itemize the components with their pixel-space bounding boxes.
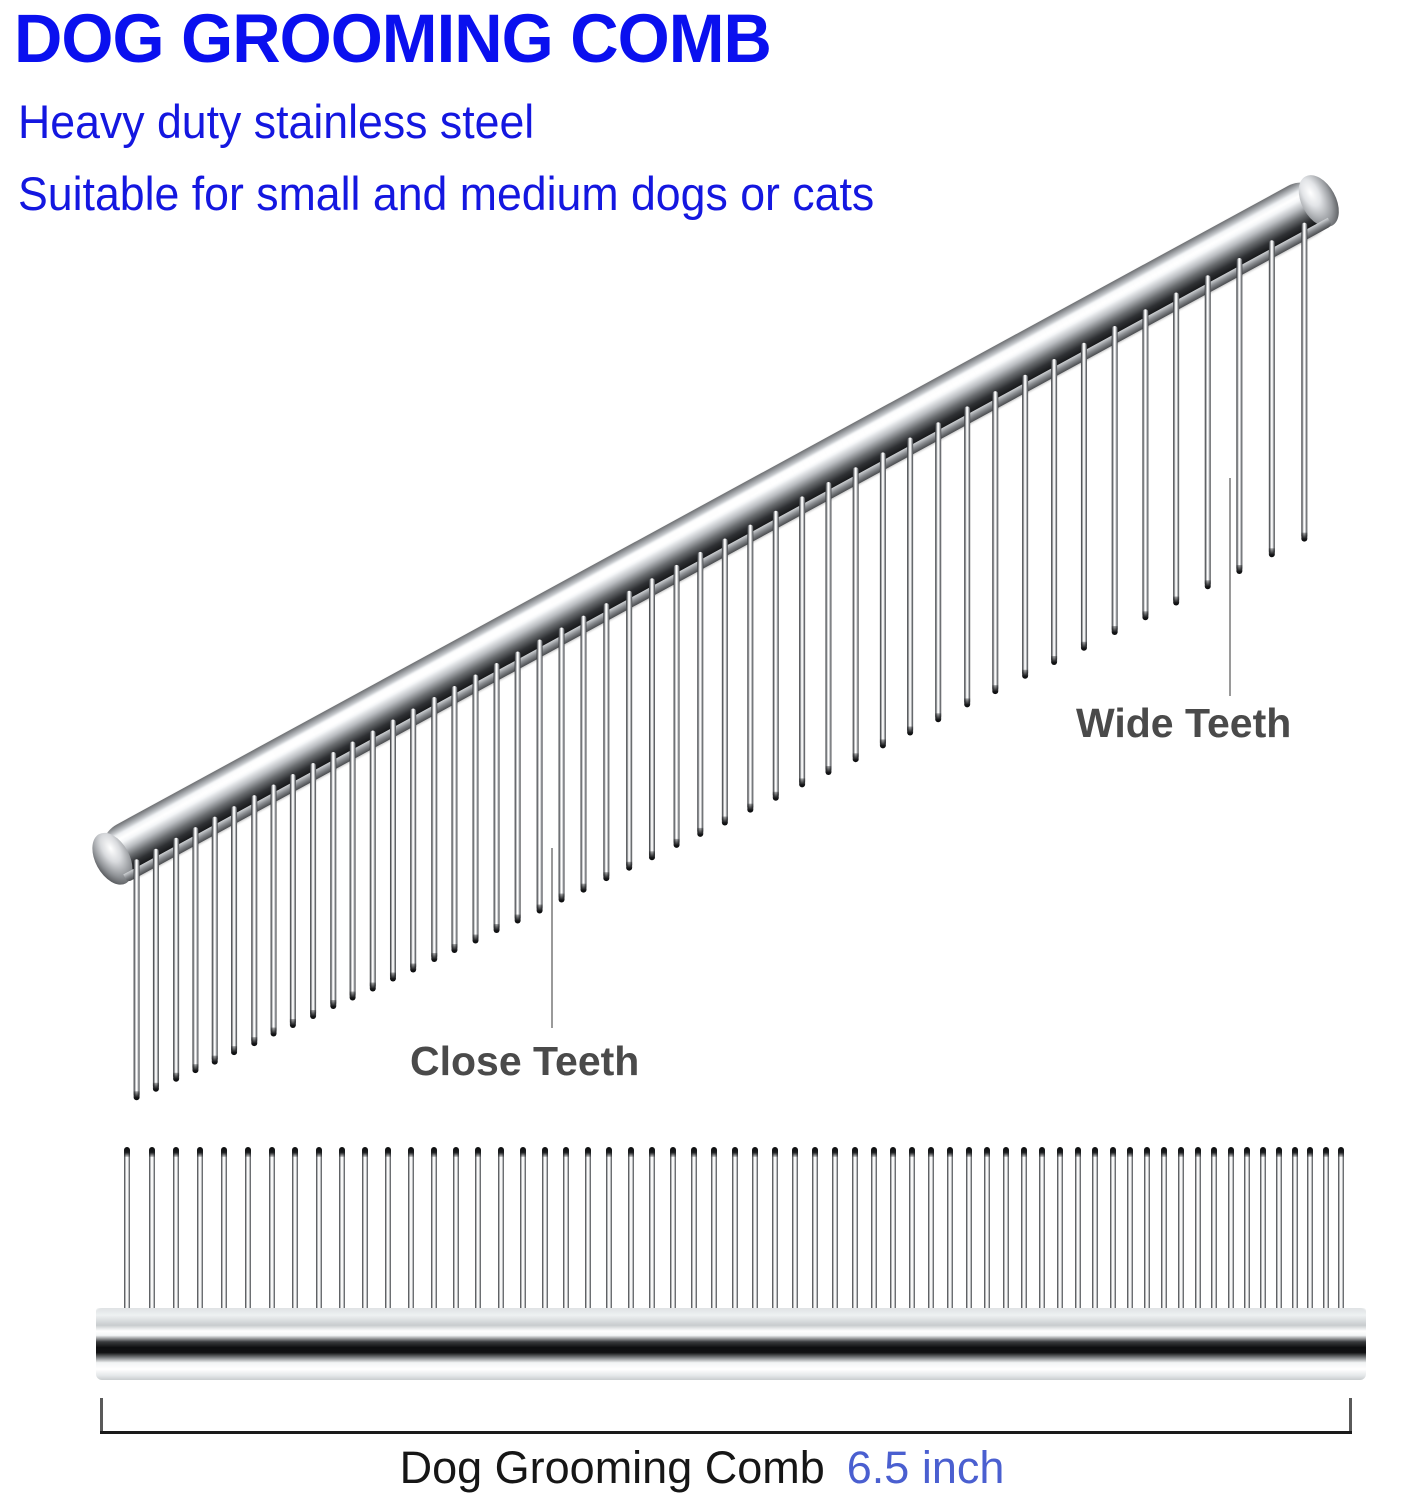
comb-tooth	[1112, 326, 1118, 632]
label-wide-teeth: Wide Teeth	[1076, 700, 1291, 747]
comb-front-tooth	[1338, 1148, 1344, 1324]
comb-tooth-tip	[370, 982, 376, 991]
comb-tooth-tip	[649, 851, 655, 860]
comb-front-tooth-tip	[628, 1147, 634, 1157]
comb-tooth-tip	[472, 934, 478, 943]
dimension-tick-right	[1349, 1398, 1352, 1434]
comb-front-tooth-shaft	[385, 1148, 391, 1324]
comb-tooth-tip	[852, 753, 858, 762]
comb-front-tooth-tip	[431, 1147, 437, 1157]
comb-tooth-shaft	[330, 752, 336, 1006]
comb-tooth-tip	[310, 1010, 316, 1019]
comb-tooth-tip	[192, 1064, 198, 1073]
comb-tooth-tip	[964, 699, 970, 708]
comb-front-tooth-shaft	[1039, 1148, 1045, 1324]
comb-front-tooth	[628, 1148, 634, 1324]
comb-front-tooth	[832, 1148, 838, 1324]
comb-tooth-tip	[1051, 656, 1057, 665]
comb-front-tooth-tip	[1211, 1147, 1217, 1157]
comb-tooth-shaft	[1142, 309, 1148, 617]
comb-front-tooth	[1195, 1148, 1201, 1324]
comb-tooth	[290, 774, 296, 1025]
comb-tooth-shaft	[134, 859, 140, 1097]
comb-front-tooth	[1307, 1148, 1313, 1324]
comb-front-base-bar	[96, 1308, 1366, 1380]
comb-tooth-tip	[799, 779, 805, 788]
comb-front-tooth-tip	[1260, 1147, 1266, 1157]
comb-tooth	[271, 785, 277, 1034]
comb-front-tooth	[732, 1148, 738, 1324]
comb-tooth-shaft	[1112, 326, 1118, 632]
comb-front-tooth	[1228, 1148, 1234, 1324]
comb-tooth-shaft	[431, 697, 437, 959]
comb-tooth-shaft	[935, 422, 941, 719]
comb-front-tooth-tip	[670, 1147, 676, 1157]
comb-front-tooth	[542, 1148, 548, 1324]
comb-tooth	[536, 640, 542, 911]
comb-front-tooth-tip	[149, 1147, 155, 1157]
comb-front-tooth	[1161, 1148, 1167, 1324]
comb-front-tooth-tip	[520, 1147, 526, 1157]
comb-tooth	[826, 482, 832, 772]
comb-front-tooth	[928, 1148, 934, 1324]
comb-front-tooth-tip	[221, 1147, 227, 1157]
comb-front-tooth-shaft	[812, 1148, 818, 1324]
comb-tooth	[1269, 240, 1275, 554]
comb-front-tooth-shaft	[1338, 1148, 1344, 1324]
comb-front-tooth	[1211, 1148, 1217, 1324]
comb-tooth	[1081, 343, 1087, 648]
comb-front-tooth-shaft	[1195, 1148, 1201, 1324]
comb-front-tooth-shaft	[871, 1148, 877, 1324]
comb-front-tooth-shaft	[772, 1148, 778, 1324]
comb-front-tooth-shaft	[316, 1148, 322, 1324]
comb-front-tooth-shaft	[966, 1148, 972, 1324]
comb-tooth	[1237, 258, 1243, 571]
comb-tooth-shaft	[1022, 375, 1028, 676]
comb-front-tooth-tip	[649, 1147, 655, 1157]
comb-front-tooth-tip	[1021, 1147, 1027, 1157]
comb-front-tooth	[1127, 1148, 1133, 1324]
comb-tooth-tip	[1269, 549, 1275, 558]
comb-front-tooth-shaft	[339, 1148, 345, 1324]
comb-tooth	[799, 496, 805, 784]
comb-tooth	[472, 675, 478, 941]
comb-front-tooth-tip	[197, 1147, 203, 1157]
comb-front-tooth-shaft	[542, 1148, 548, 1324]
comb-tooth-tip	[231, 1046, 237, 1055]
comb-front-tooth-tip	[732, 1147, 738, 1157]
comb-front-tooth	[670, 1148, 676, 1324]
comb-tooth-shaft	[558, 628, 564, 900]
comb-tooth-tip	[747, 804, 753, 813]
comb-front-tooth	[197, 1148, 203, 1324]
comb-front-tooth-shaft	[498, 1148, 504, 1324]
comb-tooth-shaft	[1301, 223, 1307, 539]
comb-front-tooth-shaft	[1244, 1148, 1250, 1324]
comb-tooth-shaft	[231, 806, 237, 1052]
comb-front-tooth-shaft	[1161, 1148, 1167, 1324]
comb-tooth-tip	[212, 1055, 218, 1064]
comb-front-tooth-tip	[966, 1147, 972, 1157]
comb-front-tooth-tip	[871, 1147, 877, 1157]
comb-front-tooth	[752, 1148, 758, 1324]
comb-front-tooth	[408, 1148, 414, 1324]
comb-front-tooth-tip	[292, 1147, 298, 1157]
comb-tooth-tip	[330, 1001, 336, 1010]
comb-front-tooth-shaft	[408, 1148, 414, 1324]
comb-front-tooth	[852, 1148, 858, 1324]
comb-front-tooth-shaft	[1323, 1148, 1329, 1324]
comb-front-tooth	[1244, 1148, 1250, 1324]
comb-tooth-tip	[390, 973, 396, 982]
comb-front-tooth-tip	[1307, 1147, 1313, 1157]
comb-tooth-shaft	[370, 730, 376, 988]
comb-front-tooth-shaft	[649, 1148, 655, 1324]
comb-tooth	[192, 827, 198, 1070]
caption-size: 6.5 inch	[847, 1442, 1005, 1493]
leader-line-wide-teeth	[1229, 478, 1231, 696]
comb-front-tooth-tip	[498, 1147, 504, 1157]
comb-front-tooth-tip	[475, 1147, 481, 1157]
comb-front-tooth-tip	[453, 1147, 459, 1157]
comb-front-tooth-shaft	[606, 1148, 612, 1324]
comb-front-tooth	[984, 1148, 990, 1324]
comb-front-tooth-tip	[339, 1147, 345, 1157]
comb-front-tooth-tip	[947, 1147, 953, 1157]
comb-tooth-shaft	[173, 838, 179, 1079]
comb-front-tooth-shaft	[1276, 1148, 1282, 1324]
comb-front-tooth-shaft	[1127, 1148, 1133, 1324]
comb-front-tooth	[1292, 1148, 1298, 1324]
comb-front-tooth	[124, 1148, 130, 1324]
comb-front-tooth	[792, 1148, 798, 1324]
comb-front-tooth-shaft	[221, 1148, 227, 1324]
comb-diagonal-view	[0, 0, 1404, 1110]
comb-tooth	[697, 552, 703, 834]
comb-tooth-tip	[773, 791, 779, 800]
comb-tooth-tip	[1173, 596, 1179, 605]
comb-front-tooth-shaft	[670, 1148, 676, 1324]
dimension-bracket	[100, 1398, 1352, 1434]
comb-front-tooth-tip	[691, 1147, 697, 1157]
comb-front-tooth-shaft	[1260, 1148, 1266, 1324]
comb-front-tooth-shaft	[1211, 1148, 1217, 1324]
comb-tooth	[515, 651, 521, 920]
comb-tooth	[212, 817, 218, 1061]
comb-front-tooth-tip	[1161, 1147, 1167, 1157]
comb-front-tooth-tip	[1039, 1147, 1045, 1157]
caption-product-name: Dog Grooming Comb	[400, 1442, 825, 1493]
comb-front-tooth-tip	[1057, 1147, 1063, 1157]
comb-front-tooth-shaft	[520, 1148, 526, 1324]
comb-tooth-shaft	[472, 675, 478, 941]
comb-front-tooth-shaft	[711, 1148, 717, 1324]
comb-front-tooth-tip	[124, 1147, 130, 1157]
comb-front-tooth	[453, 1148, 459, 1324]
comb-tooth-tip	[603, 873, 609, 882]
comb-tooth-shaft	[673, 565, 679, 845]
comb-tooth	[410, 708, 416, 969]
comb-tooth-shaft	[350, 741, 356, 997]
comb-tooth-shaft	[626, 591, 632, 868]
comb-tooth-tip	[350, 991, 356, 1000]
comb-front-tooth-shaft	[628, 1148, 634, 1324]
comb-tooth-tip	[536, 904, 542, 913]
comb-front-tooth-tip	[173, 1147, 179, 1157]
product-infographic: DOG GROOMING COMB Heavy duty stainless s…	[0, 0, 1404, 1500]
comb-front-tooth-tip	[984, 1147, 990, 1157]
comb-front-tooth	[1092, 1148, 1098, 1324]
comb-tooth	[558, 628, 564, 900]
comb-front-tooth-shaft	[1307, 1148, 1313, 1324]
comb-front-tooth-shaft	[245, 1148, 251, 1324]
comb-front-tooth-tip	[1110, 1147, 1116, 1157]
leader-line-close-teeth	[551, 848, 553, 1028]
product-caption: Dog Grooming Comb6.5 inch	[0, 1442, 1404, 1494]
comb-front-tooth-shaft	[792, 1148, 798, 1324]
comb-tooth	[1205, 275, 1211, 586]
comb-tooth-tip	[826, 766, 832, 775]
comb-front-tooth-tip	[606, 1147, 612, 1157]
comb-tooth-shaft	[536, 640, 542, 911]
comb-front-tooth	[909, 1148, 915, 1324]
comb-front-tooth-tip	[408, 1147, 414, 1157]
comb-tooth-shaft	[251, 795, 257, 1043]
comb-tooth-shaft	[773, 511, 779, 798]
comb-tooth-shaft	[153, 849, 159, 1089]
comb-front-tooth-shaft	[1110, 1148, 1116, 1324]
dimension-line	[100, 1431, 1352, 1434]
comb-front-tooth-shaft	[269, 1148, 275, 1324]
comb-front-tooth	[173, 1148, 179, 1324]
comb-front-tooth-tip	[362, 1147, 368, 1157]
comb-front-tooth-tip	[563, 1147, 569, 1157]
comb-tooth	[231, 806, 237, 1052]
comb-front-tooth-tip	[928, 1147, 934, 1157]
comb-front-tooth-shaft	[1228, 1148, 1234, 1324]
comb-front-tooth	[649, 1148, 655, 1324]
comb-tooth	[134, 859, 140, 1097]
comb-front-tooth-tip	[792, 1147, 798, 1157]
comb-front-tooth-tip	[832, 1147, 838, 1157]
comb-front-tooth-shaft	[1075, 1148, 1081, 1324]
comb-front-tooth	[385, 1148, 391, 1324]
comb-front-tooth-shaft	[124, 1148, 130, 1324]
comb-front-tooth-tip	[1276, 1147, 1282, 1157]
comb-front-tooth-tip	[1338, 1147, 1344, 1157]
comb-front-tooth	[339, 1148, 345, 1324]
comb-tooth	[626, 591, 632, 868]
comb-tooth	[431, 697, 437, 959]
comb-tooth-tip	[1022, 670, 1028, 679]
comb-tooth	[722, 538, 728, 822]
comb-front-tooth-shaft	[453, 1148, 459, 1324]
comb-tooth-shaft	[722, 538, 728, 822]
comb-tooth-shaft	[581, 616, 587, 890]
comb-front-tooth-shaft	[890, 1148, 896, 1324]
comb-front-tooth	[431, 1148, 437, 1324]
comb-tooth-tip	[251, 1037, 257, 1046]
comb-front-tooth-tip	[812, 1147, 818, 1157]
comb-front-tooth	[711, 1148, 717, 1324]
comb-tooth-tip	[290, 1019, 296, 1028]
comb-tooth-tip	[626, 862, 632, 871]
comb-front-tooth	[1260, 1148, 1266, 1324]
comb-tooth	[251, 795, 257, 1043]
comb-front-tooth	[269, 1148, 275, 1324]
comb-front-tooth-shaft	[431, 1148, 437, 1324]
comb-front-tooth-shaft	[475, 1148, 481, 1324]
comb-front-tooth	[362, 1148, 368, 1324]
comb-tooth-shaft	[192, 827, 198, 1070]
comb-tooth-shaft	[907, 437, 913, 732]
comb-front-tooth-tip	[385, 1147, 391, 1157]
comb-tooth	[907, 437, 913, 732]
comb-tooth-shaft	[493, 663, 499, 930]
comb-tooth-tip	[907, 726, 913, 735]
comb-tooth-shaft	[271, 785, 277, 1034]
comb-front-tooth-tip	[1144, 1147, 1150, 1157]
comb-front-tooth	[149, 1148, 155, 1324]
comb-tooth	[493, 663, 499, 930]
comb-front-tooth	[245, 1148, 251, 1324]
comb-tooth	[1301, 223, 1307, 539]
comb-tooth-tip	[1142, 611, 1148, 620]
comb-front-tooth-tip	[1195, 1147, 1201, 1157]
comb-front-tooth-shaft	[1144, 1148, 1150, 1324]
comb-front-tooth-tip	[269, 1147, 275, 1157]
comb-tooth-shaft	[603, 603, 609, 878]
comb-front-tooth-shaft	[1178, 1148, 1184, 1324]
comb-tooth-shaft	[451, 686, 457, 950]
comb-front-tooth	[498, 1148, 504, 1324]
comb-tooth	[673, 565, 679, 845]
comb-tooth-shaft	[852, 467, 858, 759]
comb-front-tooth	[221, 1148, 227, 1324]
comb-front-tooth-tip	[542, 1147, 548, 1157]
comb-front-tooth	[563, 1148, 569, 1324]
comb-front-tooth-tip	[1228, 1147, 1234, 1157]
comb-tooth	[390, 719, 396, 978]
comb-front-tooth-shaft	[362, 1148, 368, 1324]
comb-front-tooth-shaft	[909, 1148, 915, 1324]
comb-front-tooth-shaft	[832, 1148, 838, 1324]
comb-tooth-shaft	[1237, 258, 1243, 571]
comb-front-tooth	[520, 1148, 526, 1324]
comb-front-tooth	[1003, 1148, 1009, 1324]
comb-front-tooth-tip	[585, 1147, 591, 1157]
comb-front-tooth	[890, 1148, 896, 1324]
comb-front-tooth-tip	[1127, 1147, 1133, 1157]
comb-tooth-shaft	[515, 651, 521, 920]
comb-tooth-tip	[515, 914, 521, 923]
comb-front-tooth	[1110, 1148, 1116, 1324]
comb-tooth-shaft	[649, 578, 655, 857]
comb-tooth	[451, 686, 457, 950]
comb-tooth	[603, 603, 609, 878]
comb-front-tooth	[691, 1148, 697, 1324]
comb-tooth-tip	[1081, 641, 1087, 650]
comb-tooth-tip	[153, 1082, 159, 1091]
comb-tooth-tip	[431, 954, 437, 963]
comb-tooth	[1022, 375, 1028, 676]
comb-front-tooth-tip	[1003, 1147, 1009, 1157]
comb-tooth-tip	[173, 1073, 179, 1082]
comb-front-tooth	[606, 1148, 612, 1324]
comb-front-tooth	[772, 1148, 778, 1324]
comb-tooth	[153, 849, 159, 1089]
comb-front-tooth-tip	[245, 1147, 251, 1157]
comb-front-tooth-shaft	[732, 1148, 738, 1324]
comb-front-tooth	[292, 1148, 298, 1324]
comb-tooth-shaft	[697, 552, 703, 834]
comb-front-tooth-tip	[890, 1147, 896, 1157]
comb-front-tooth-tip	[1323, 1147, 1329, 1157]
comb-front-tooth	[1021, 1148, 1027, 1324]
label-close-teeth: Close Teeth	[410, 1038, 639, 1085]
comb-front-tooth	[1276, 1148, 1282, 1324]
comb-front-tooth-shaft	[1292, 1148, 1298, 1324]
comb-front-tooth-shaft	[984, 1148, 990, 1324]
comb-tooth-tip	[1112, 626, 1118, 635]
comb-tooth	[370, 730, 376, 988]
comb-tooth	[1173, 292, 1179, 602]
comb-front-tooth-shaft	[1057, 1148, 1063, 1324]
comb-tooth-tip	[271, 1028, 277, 1037]
comb-front-view	[96, 1128, 1366, 1380]
comb-front-tooth-tip	[1244, 1147, 1250, 1157]
comb-tooth-shaft	[1269, 240, 1275, 554]
comb-tooth-tip	[722, 816, 728, 825]
comb-teeth-group	[92, 173, 1404, 1102]
comb-tooth	[1051, 359, 1057, 662]
comb-front-tooth-tip	[1178, 1147, 1184, 1157]
comb-tooth-tip	[1301, 533, 1307, 542]
comb-front-tooth	[585, 1148, 591, 1324]
comb-tooth-shaft	[290, 774, 296, 1025]
comb-tooth	[649, 578, 655, 857]
comb-front-tooth-tip	[1292, 1147, 1298, 1157]
comb-tooth-shaft	[747, 525, 753, 810]
comb-tooth	[773, 511, 779, 798]
comb-tooth-tip	[697, 828, 703, 837]
comb-front-tooth	[1075, 1148, 1081, 1324]
comb-tooth-shaft	[212, 817, 218, 1061]
comb-front-tooth-shaft	[752, 1148, 758, 1324]
comb-front-tooth-shaft	[563, 1148, 569, 1324]
comb-tooth	[852, 467, 858, 759]
comb-front-tooth-shaft	[1003, 1148, 1009, 1324]
comb-front-tooth	[475, 1148, 481, 1324]
comb-front-tooth	[966, 1148, 972, 1324]
comb-front-tooth	[1144, 1148, 1150, 1324]
comb-tooth	[935, 422, 941, 719]
comb-front-tooth	[1178, 1148, 1184, 1324]
comb-tooth-shaft	[1205, 275, 1211, 586]
comb-tooth	[1142, 309, 1148, 617]
comb-front-tooth	[1323, 1148, 1329, 1324]
comb-tooth-shaft	[880, 452, 886, 745]
comb-tooth-tip	[1205, 580, 1211, 589]
comb-front-tooth	[947, 1148, 953, 1324]
comb-tooth-tip	[134, 1091, 140, 1100]
comb-front-tooth-tip	[852, 1147, 858, 1157]
comb-tooth-shaft	[1173, 292, 1179, 602]
comb-front-tooth-tip	[752, 1147, 758, 1157]
comb-tooth-shaft	[310, 763, 316, 1016]
comb-front-tooth-shaft	[292, 1148, 298, 1324]
